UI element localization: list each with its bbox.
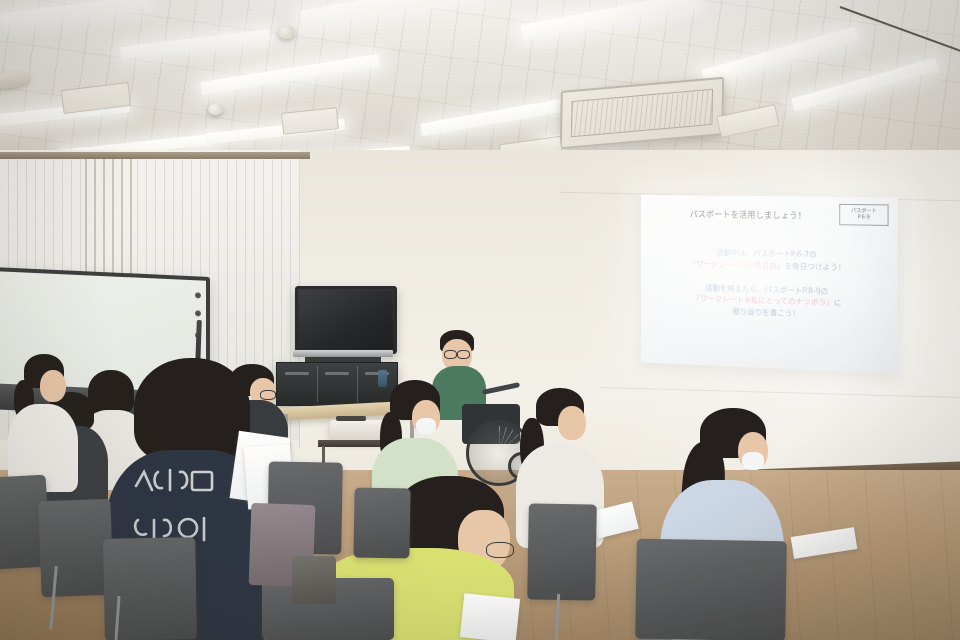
presenter-glasses-icon bbox=[444, 350, 457, 359]
student-head bbox=[40, 370, 66, 402]
chair[interactable] bbox=[527, 503, 597, 600]
chair[interactable] bbox=[635, 539, 787, 640]
slide-body: 活動中は、パスポートP.6-7の 『ワークシート③活動日誌』を毎日つけよう！ 活… bbox=[652, 246, 885, 324]
projected-slide: パスポートを活用しましょう！ パスポート P.6-9 活動中は、パスポートP.6… bbox=[641, 195, 898, 374]
slide-reference-box: パスポート P.6-9 bbox=[839, 204, 888, 226]
television-speaker-strip bbox=[293, 350, 393, 357]
whiteboard-button-icon[interactable] bbox=[195, 310, 201, 316]
projection-screen: パスポートを活用しましょう！ パスポート P.6-9 活動中は、パスポートP.6… bbox=[641, 195, 898, 374]
slide-block1-highlight: 『ワークシート③活動日誌』 bbox=[689, 259, 785, 270]
slide-block2-tail: に bbox=[834, 298, 842, 307]
presenter-glasses-icon bbox=[457, 350, 470, 359]
face-mask bbox=[416, 418, 436, 434]
student-head bbox=[558, 406, 586, 440]
slide-reference-line2: P.6-9 bbox=[858, 215, 870, 221]
student-glasses-icon bbox=[486, 542, 514, 558]
cabinet-handle[interactable] bbox=[325, 372, 349, 375]
student-hair bbox=[134, 358, 250, 462]
classroom-scene: パスポートを活用しましょう！ パスポート P.6-9 活動中は、パスポートP.6… bbox=[0, 0, 960, 640]
smoke-detector-icon bbox=[208, 104, 223, 115]
chair[interactable] bbox=[353, 488, 410, 559]
worksheet-paper[interactable] bbox=[460, 593, 520, 640]
bag bbox=[292, 556, 336, 604]
television bbox=[295, 286, 397, 354]
television-screen bbox=[300, 291, 392, 349]
cabinet-divider bbox=[317, 366, 318, 402]
face-mask bbox=[742, 452, 764, 470]
cabinet-divider bbox=[357, 366, 358, 402]
whiteboard-button-icon[interactable] bbox=[195, 292, 201, 298]
smoke-detector-icon bbox=[278, 26, 295, 39]
student-1 bbox=[8, 352, 80, 492]
slide-block1-tail: を毎日つけよう！ bbox=[784, 261, 845, 272]
slide-title: パスポートを活用しましょう！ bbox=[665, 208, 832, 222]
air-conditioner-grille bbox=[571, 89, 713, 138]
